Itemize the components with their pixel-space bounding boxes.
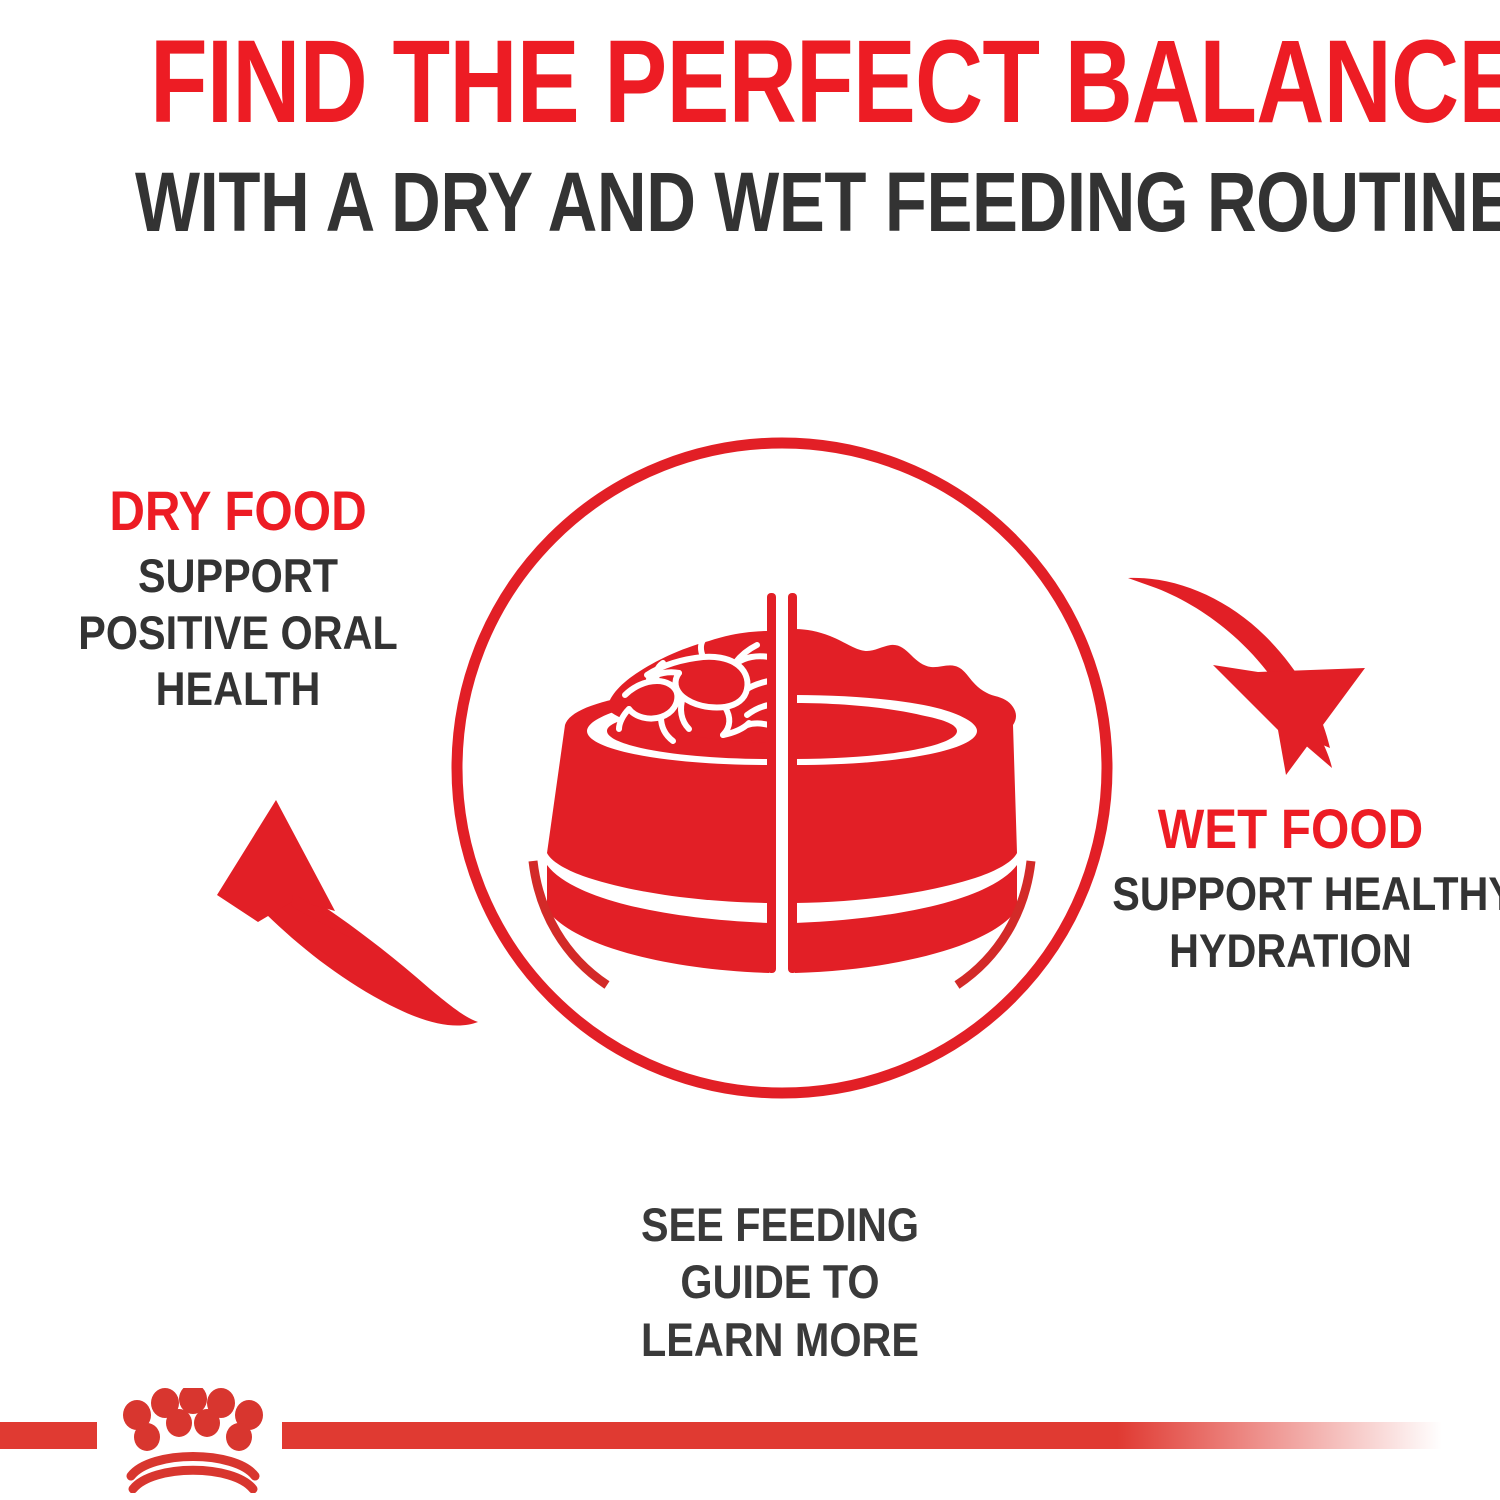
page-title: FIND THE PERFECT BALANCE <box>150 22 1350 142</box>
footer-rule-left <box>0 1422 97 1449</box>
caption-line-1: SEE FEEDING <box>516 1196 1044 1253</box>
caption-line-2: GUIDE TO <box>516 1253 1044 1310</box>
footer <box>0 1388 1500 1500</box>
divider-line-right <box>788 593 797 973</box>
curved-arrow-up-left-icon <box>198 782 488 1047</box>
page-subtitle: WITH A DRY AND WET FEEDING ROUTINE <box>135 158 1365 246</box>
caption-line-3: LEARN MORE <box>516 1311 1044 1368</box>
dry-food-line-1: SUPPORT <box>62 548 414 604</box>
royal-canin-crown-logo <box>103 1388 283 1493</box>
bowl-graphic <box>533 593 1031 985</box>
header-block: FIND THE PERFECT BALANCE WITH A DRY AND … <box>0 22 1500 247</box>
feeding-guide-caption: SEE FEEDING GUIDE TO LEARN MORE <box>480 1196 1080 1368</box>
dry-food-label-block: DRY FOOD SUPPORT POSITIVE ORAL HEALTH <box>38 482 438 717</box>
wet-food-line-2: HYDRATION <box>1112 923 1468 979</box>
curved-arrow-down-right-icon <box>1118 560 1408 825</box>
wet-food-label-block: WET FOOD SUPPORT HEALTHY HYDRATION <box>1088 800 1493 979</box>
dry-food-line-3: HEALTH <box>62 661 414 717</box>
footer-rule-right <box>282 1422 1442 1449</box>
dry-food-line-2: POSITIVE ORAL <box>62 605 414 661</box>
wet-food-description: SUPPORT HEALTHY HYDRATION <box>1112 866 1468 979</box>
dry-food-description: SUPPORT POSITIVE ORAL HEALTH <box>62 548 414 717</box>
dry-food-title: DRY FOOD <box>62 482 414 540</box>
divider-line-left <box>767 593 776 973</box>
split-pet-food-bowl-icon <box>447 433 1117 1103</box>
wet-food-line-1: SUPPORT HEALTHY <box>1112 866 1468 922</box>
